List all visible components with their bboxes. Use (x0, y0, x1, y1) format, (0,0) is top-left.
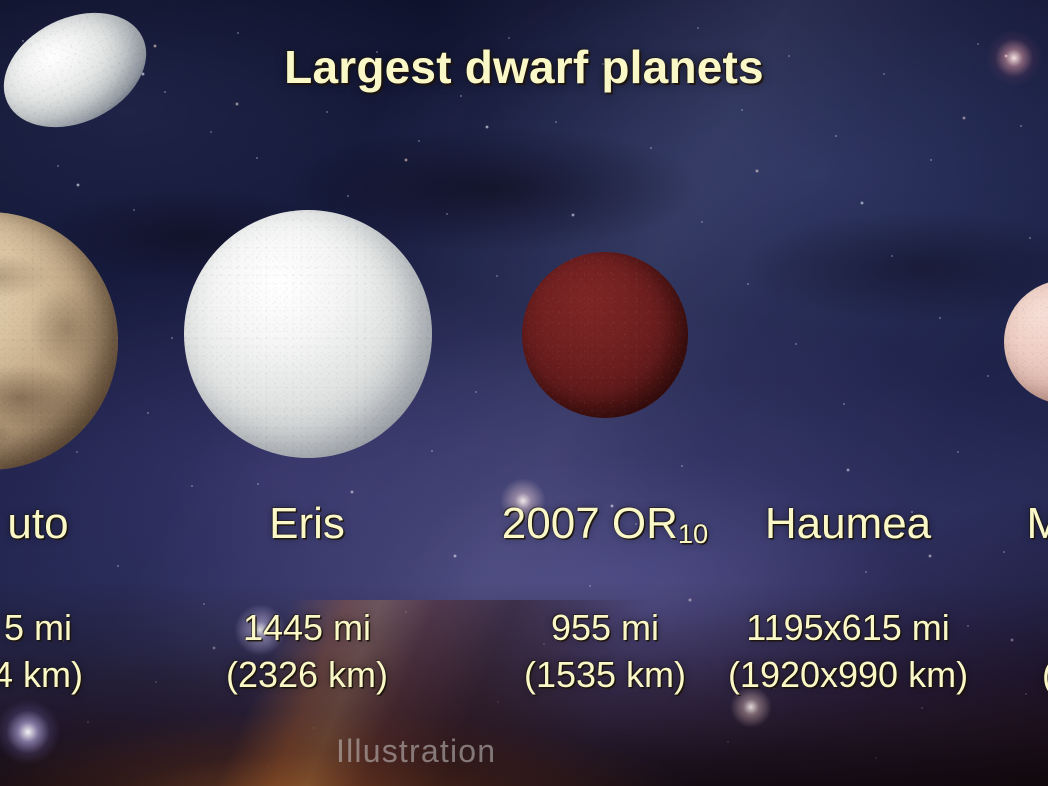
planet-size-miles-2007-or10: 955 mi (551, 610, 659, 646)
planet-size-miles-eris: 1445 mi (243, 610, 371, 646)
planet-size-km-2007-or10: (1535 km) (524, 657, 686, 693)
planet-size-km-pluto: 4 km) (0, 657, 83, 693)
planet-size-miles-pluto: 5 mi (4, 610, 72, 646)
planet-name-haumea: Haumea (765, 502, 931, 546)
planet-pluto (0, 212, 118, 470)
planet-name-makemake: Mak (1026, 502, 1048, 546)
pluto-texture (0, 212, 118, 470)
planet-name-2007-or10-subscript: 10 (678, 518, 708, 549)
illustration-watermark: Illustration (336, 733, 496, 770)
planet-makemake (1004, 280, 1048, 404)
planet-name-2007-or10-main: 2007 OR (502, 499, 678, 548)
page-title: Largest dwarf planets (0, 40, 1048, 94)
planet-eris (184, 210, 432, 458)
makemake-texture (1004, 280, 1048, 404)
planet-name-pluto: uto (7, 502, 68, 546)
planet-name-2007-or10: 2007 OR10 (502, 502, 708, 546)
or10-texture (522, 252, 688, 418)
planet-size-miles-haumea: 1195x615 mi (746, 610, 949, 646)
eris-texture (184, 210, 432, 458)
haumea-texture (0, 0, 165, 150)
dwarf-planets-infographic: Largest dwarf planets uto 5 mi 4 km) Eri… (0, 0, 1048, 786)
planet-size-km-haumea: (1920x990 km) (728, 657, 968, 693)
planet-size-km-makemake: (14 (1042, 657, 1048, 693)
planet-haumea (0, 0, 150, 148)
haumea-surface (0, 0, 165, 150)
planet-size-km-eris: (2326 km) (226, 657, 388, 693)
glow-star-left-lower (0, 700, 60, 764)
planet-name-eris: Eris (269, 502, 345, 546)
planet-2007-or10 (522, 252, 688, 418)
